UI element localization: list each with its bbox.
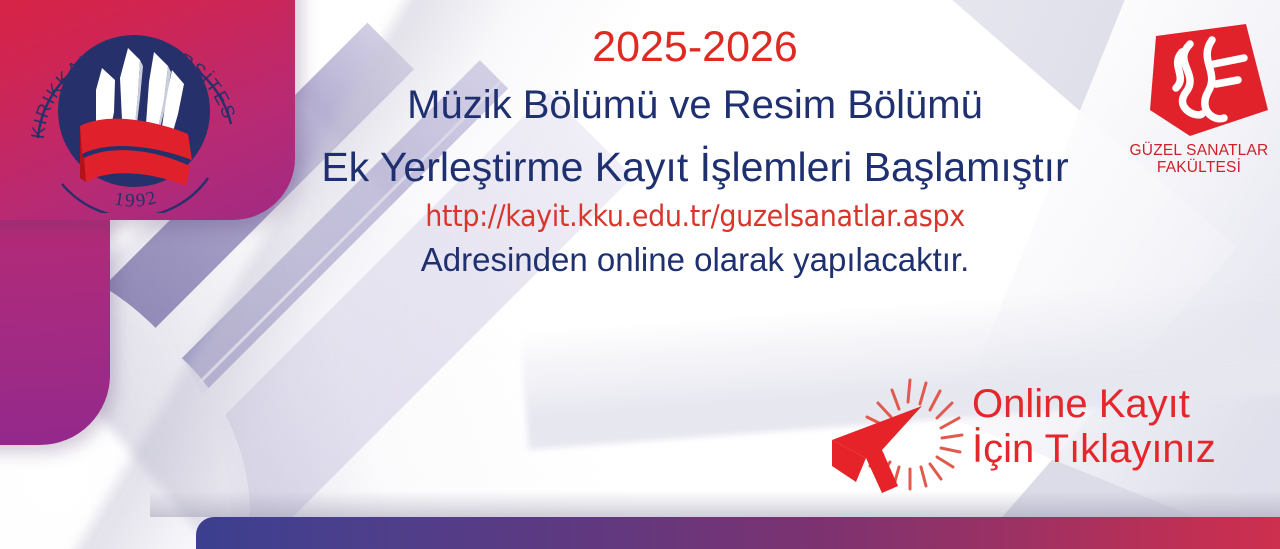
svg-text:1992: 1992 (113, 187, 161, 212)
headline: Ek Yerleştirme Kayıt İşlemleri Başlamışt… (300, 146, 1090, 189)
academic-year: 2025-2026 (300, 26, 1090, 70)
emblem-year-text: 1992 (113, 187, 161, 212)
kirikkale-universitesi-seal-icon: KIRIKKALE ÜNİVERSİTESİ 1992 (22, 8, 247, 213)
cta-line2: İçin Tıklayınız (972, 427, 1216, 472)
registration-url[interactable]: http://kayit.kku.edu.tr/guzelsanatlar.as… (328, 201, 1063, 231)
faculty-logo-caption: GÜZEL SANATLAR FAKÜLTESİ (1118, 142, 1280, 177)
bottom-bar-shadow (150, 491, 1280, 517)
cta-label: Online Kayıt İçin Tıklayınız (972, 382, 1216, 472)
red-panel-lower (0, 210, 110, 445)
online-registration-cta[interactable]: Online Kayıt İçin Tıklayınız (826, 366, 1280, 506)
announcement-text-block: 2025-2026 Müzik Bölümü ve Resim Bölümü E… (300, 26, 1090, 278)
cta-line1: Online Kayıt (972, 382, 1216, 427)
faculty-name-line2: FAKÜLTESİ (1118, 159, 1280, 176)
faculty-name-line1: GÜZEL SANATLAR (1118, 142, 1280, 159)
departments-line: Müzik Bölümü ve Resim Bölümü (300, 84, 1090, 126)
click-cursor-icon (826, 366, 976, 506)
announcement-banner: KIRIKKALE ÜNİVERSİTESİ 1992 (0, 0, 1280, 549)
registration-note: Adresinden online olarak yapılacaktır. (300, 243, 1090, 278)
bottom-accent-bar (196, 517, 1280, 549)
